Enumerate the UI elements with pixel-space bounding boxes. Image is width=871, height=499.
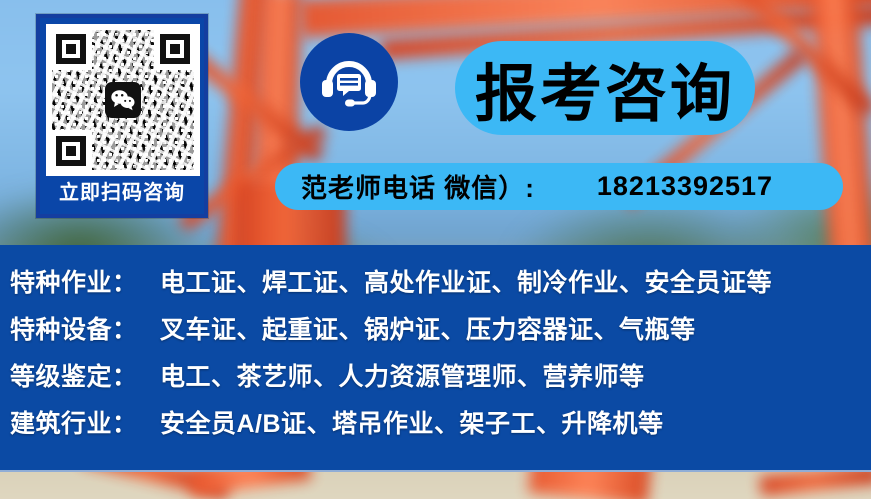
category-value: 叉车证、起重证、锅炉证、压力容器证、气瓶等 [160, 310, 696, 346]
contact-phone-number[interactable]: 18213392517 [597, 171, 773, 202]
category-value: 电工、茶艺师、人力资源管理师、营养师等 [160, 357, 645, 393]
promo-poster: 立即扫码咨询 报考咨询 范老师电话 微信）: 18213392517 [0, 0, 871, 499]
category-row-grade-assessment: 等级鉴定： 电工、茶艺师、人力资源管理师、营养师等 [10, 357, 871, 404]
category-value: 安全员A/B证、塔吊作业、架子工、升降机等 [160, 404, 664, 440]
qr-finder-top-left [56, 34, 86, 64]
category-value: 电工证、焊工证、高处作业证、制冷作业、安全员证等 [160, 263, 772, 299]
qr-finder-bottom-left [56, 136, 86, 166]
category-label: 特种作业： [10, 263, 160, 299]
wechat-logo-icon [105, 82, 141, 118]
qr-code-card[interactable]: 立即扫码咨询 [36, 14, 208, 218]
headset-support-icon[interactable] [300, 33, 398, 131]
category-label: 特种设备： [10, 310, 160, 346]
qr-code-caption: 立即扫码咨询 [40, 174, 204, 212]
category-row-construction-industry: 建筑行业： 安全员A/B证、塔吊作业、架子工、升降机等 [10, 404, 871, 451]
category-label: 等级鉴定： [10, 357, 160, 393]
course-categories-panel: 特种作业： 电工证、焊工证、高处作业证、制冷作业、安全员证等 特种设备： 叉车证… [0, 245, 871, 472]
contact-label: 范老师电话 微信）: [301, 168, 535, 205]
panel-bottom-divider [0, 470, 871, 472]
category-row-special-operations: 特种作业： 电工证、焊工证、高处作业证、制冷作业、安全员证等 [10, 263, 871, 310]
qr-finder-top-right [160, 34, 190, 64]
qr-code-frame [46, 24, 200, 176]
consult-cta-button[interactable]: 报考咨询 [455, 41, 755, 135]
contact-bar[interactable]: 范老师电话 微信）: 18213392517 [275, 163, 843, 210]
category-label: 建筑行业： [10, 404, 160, 440]
qr-code-icon [52, 30, 194, 170]
category-row-special-equipment: 特种设备： 叉车证、起重证、锅炉证、压力容器证、气瓶等 [10, 310, 871, 357]
consult-cta-label: 报考咨询 [475, 43, 735, 133]
